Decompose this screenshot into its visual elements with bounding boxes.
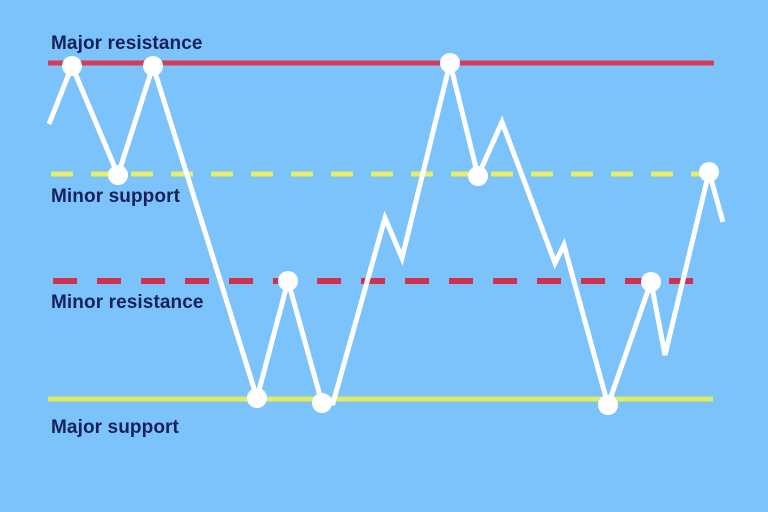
price-marker [143, 56, 163, 76]
price-marker [598, 395, 618, 415]
label-major-resistance: Major resistance [51, 33, 203, 55]
price-marker [440, 53, 460, 73]
price-marker [699, 162, 719, 182]
label-major-support: Major support [51, 417, 179, 439]
price-marker [108, 165, 128, 185]
price-marker [312, 393, 332, 413]
price-marker [468, 166, 488, 186]
label-minor-resistance: Minor resistance [51, 292, 204, 314]
label-minor-support: Minor support [51, 186, 180, 208]
price-marker [247, 388, 267, 408]
price-marker [62, 56, 82, 76]
price-marker [278, 271, 298, 291]
chart-canvas: Major resistance Minor support Minor res… [0, 0, 768, 512]
price-marker [641, 272, 661, 292]
